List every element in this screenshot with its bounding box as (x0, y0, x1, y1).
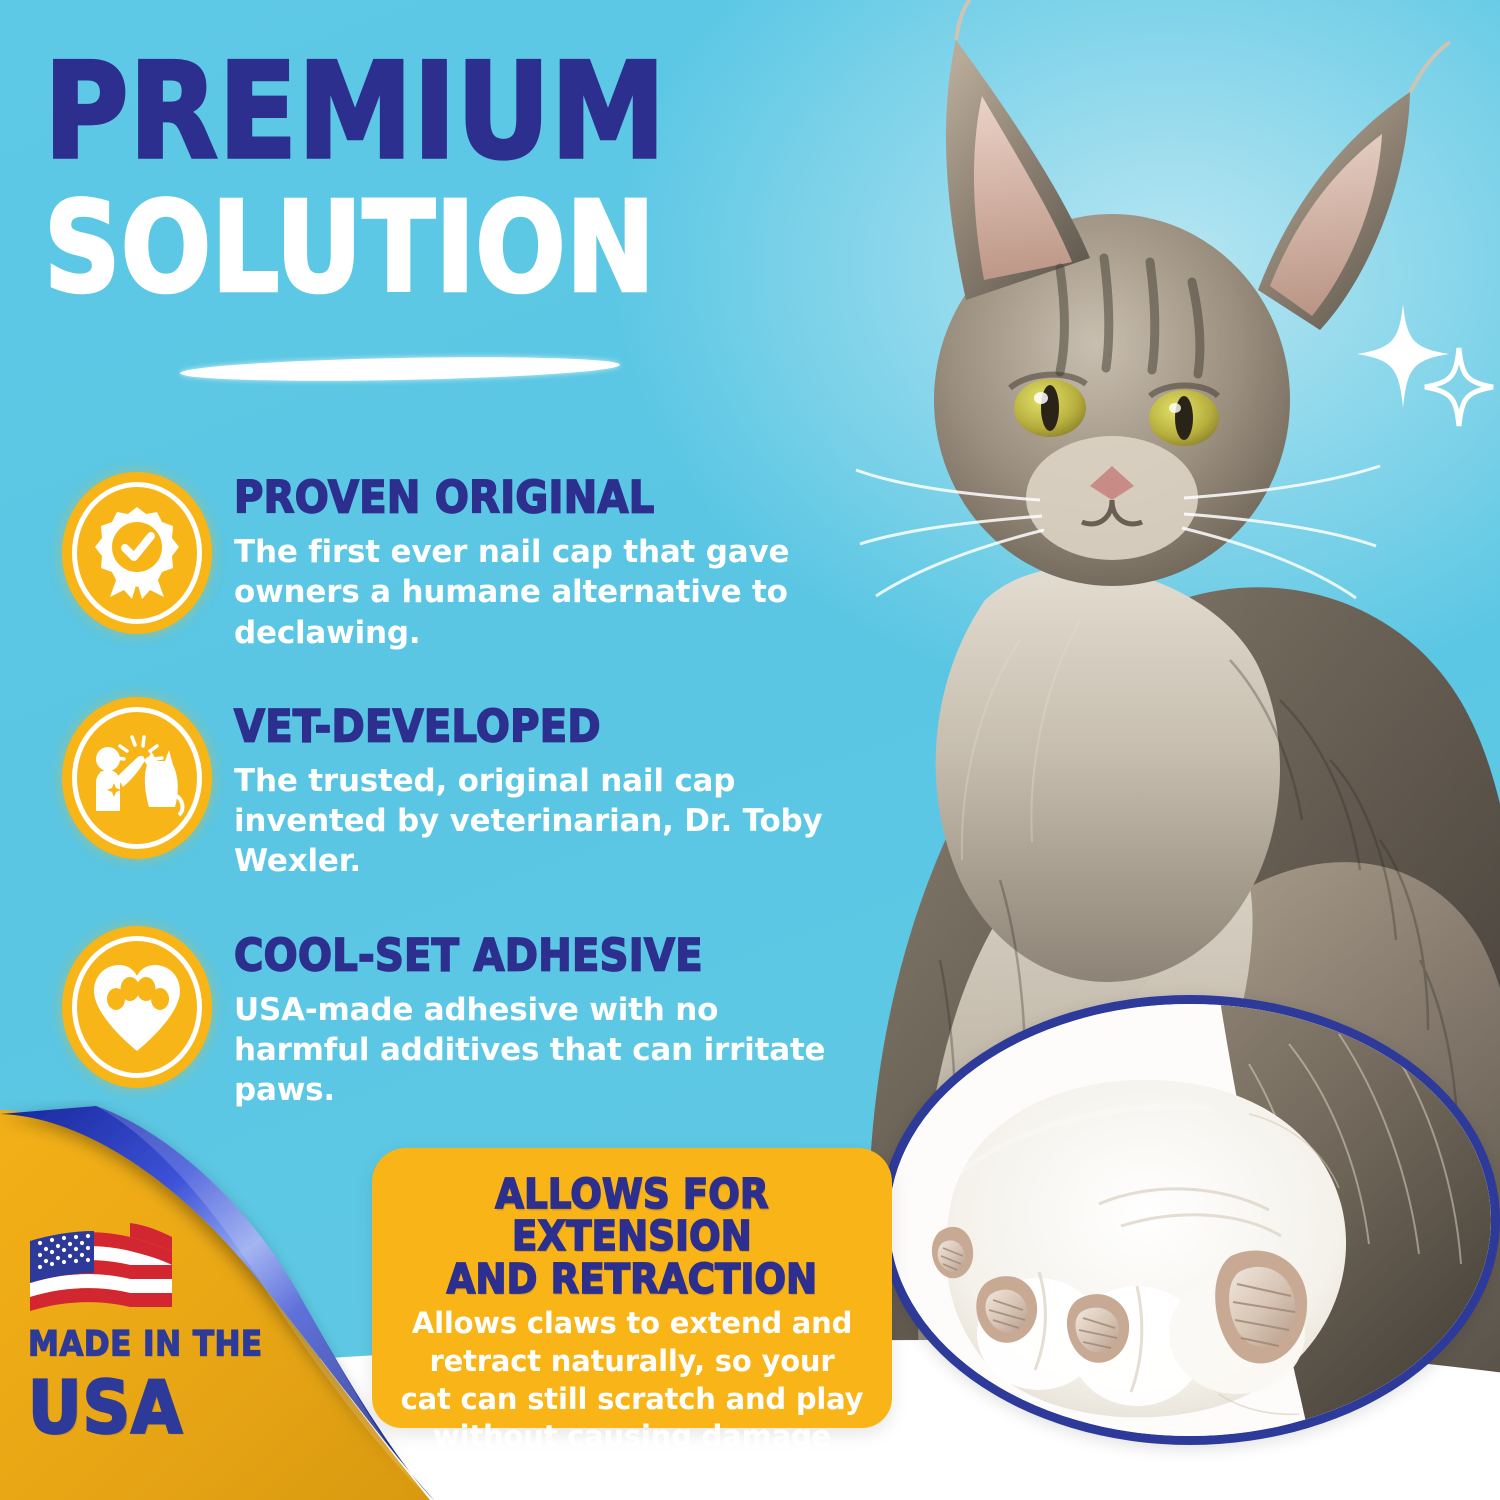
heart-paw-icon (62, 926, 212, 1088)
feature-item-proven-original: PROVEN ORIGINAL The first ever nail cap … (62, 460, 852, 653)
vet-and-cat-icon (62, 697, 212, 859)
callout-title-line-2: AND RETRACTION (390, 1259, 874, 1301)
product-infographic: PREMIUM SOLUTION PROVEN ORIGINAL The fir… (0, 0, 1500, 1500)
feature-item-cool-set-adhesive: COOL-SET ADHESIVE USA-made adhesive with… (62, 914, 852, 1111)
award-ribbon-icon (62, 472, 212, 634)
extension-retraction-callout: ALLOWS FOR EXTENSION AND RETRACTION Allo… (372, 1148, 892, 1428)
callout-title: ALLOWS FOR EXTENSION AND RETRACTION (390, 1174, 874, 1301)
feature-body: The first ever nail cap that gave owners… (234, 532, 844, 653)
made-in-usa-badge: MADE IN THE USA (28, 1221, 308, 1438)
headline-line-1: PREMIUM (44, 52, 909, 174)
feature-body: The trusted, original nail cap invented … (234, 761, 844, 882)
made-in-the-label: MADE IN THE (28, 1324, 308, 1364)
feature-title: PROVEN ORIGINAL (234, 472, 844, 524)
us-flag-icon (28, 1221, 308, 1318)
feature-list: PROVEN ORIGINAL The first ever nail cap … (62, 460, 852, 1143)
white-swoosh-underline (180, 354, 620, 384)
page-title: PREMIUM SOLUTION (44, 52, 884, 287)
callout-title-line-1: ALLOWS FOR EXTENSION (390, 1174, 874, 1259)
sparkle-stars-icon (1355, 300, 1495, 435)
feature-title: VET-DEVELOPED (234, 701, 844, 753)
callout-body: Allows claws to extend and retract natur… (390, 1305, 874, 1456)
feature-title: COOL-SET ADHESIVE (234, 930, 844, 982)
usa-label: USA (28, 1372, 308, 1445)
headline-line-2: SOLUTION (44, 191, 901, 306)
feature-item-vet-developed: VET-DEVELOPED The trusted, original nail… (62, 685, 852, 882)
feature-body: USA-made adhesive with no harmful additi… (234, 990, 844, 1111)
cat-paw-with-nail-caps-photo (880, 995, 1500, 1445)
